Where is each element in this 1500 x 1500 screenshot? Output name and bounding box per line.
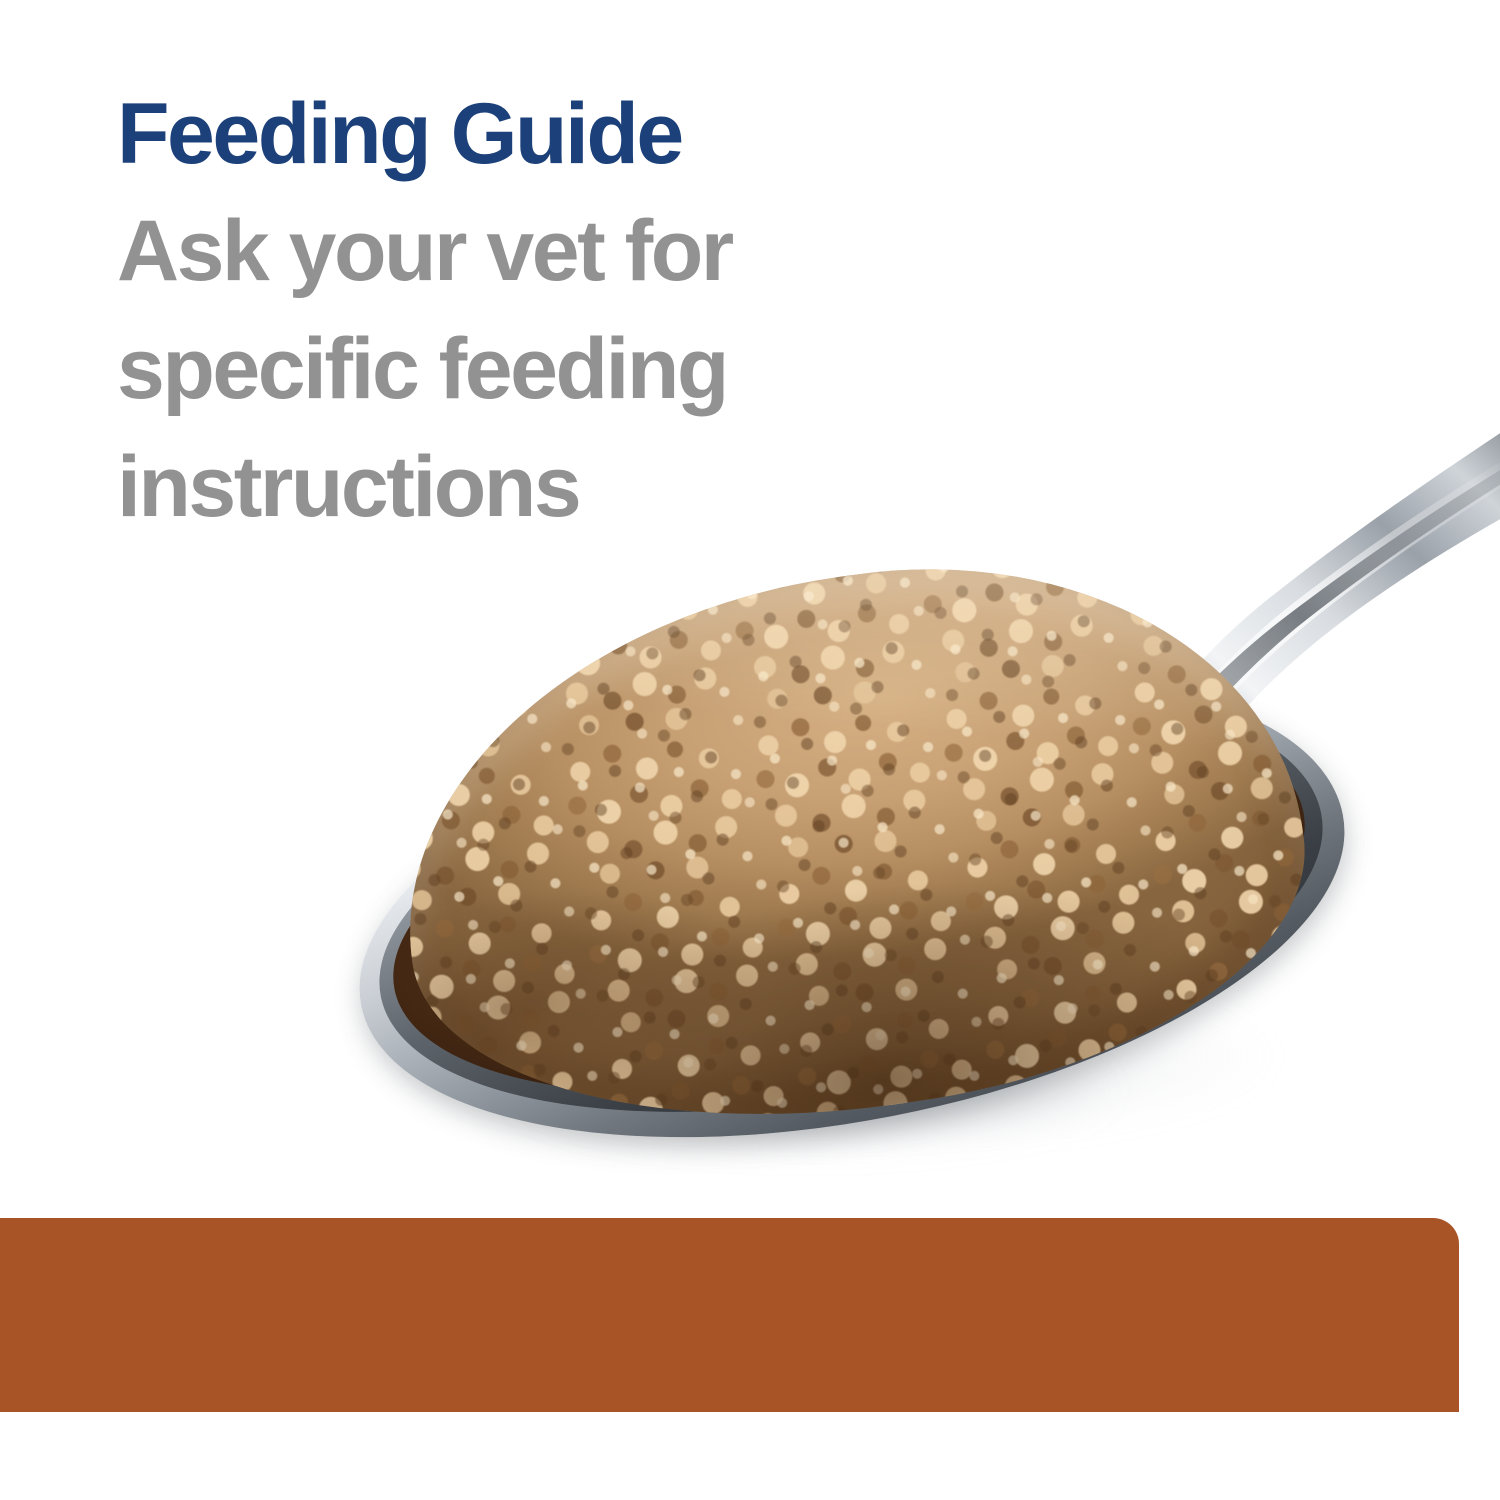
food-mound	[400, 578, 1300, 1108]
subtitle: Ask your vet for specific feeding instru…	[117, 192, 1067, 546]
headline-group: Feeding Guide Ask your vet for specific …	[117, 86, 1067, 546]
subtitle-line-1: Ask your vet for	[117, 192, 1067, 310]
feeding-guide-card: Feeding Guide Ask your vet for specific …	[0, 0, 1500, 1500]
page-title: Feeding Guide	[117, 86, 1067, 182]
brown-footer-band	[0, 1218, 1459, 1412]
subtitle-line-2: specific feeding	[117, 310, 1067, 428]
subtitle-line-3: instructions	[117, 428, 1067, 546]
